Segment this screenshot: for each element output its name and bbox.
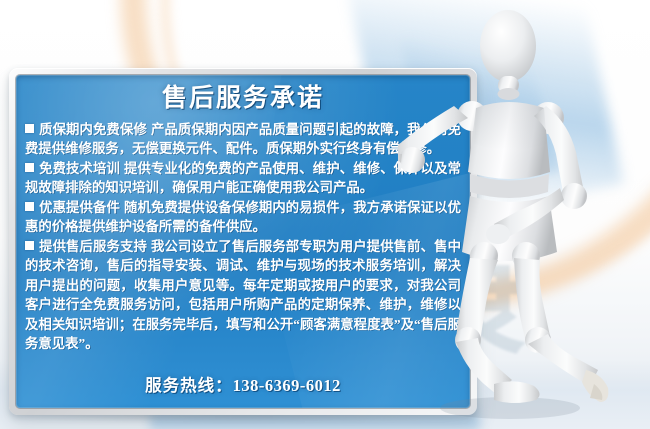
list-item: 质保期内免费保修产品质保期内因产品质量问题引起的故障，我公司免费提供维修服务，无… <box>25 120 461 159</box>
square-bullet-icon <box>25 202 34 211</box>
list-item: 优惠提供备件随机免费提供设备保修期内的易损件，我方承诺保证以优惠的价格提供维护设… <box>25 198 461 237</box>
list-item: 免费技术培训提供专业化的免费的产品使用、维护、维修、保养以及常规故障排除的知识培… <box>25 159 461 198</box>
signboard-panel: 售后服务承诺 质保期内免费保修产品质保期内因产品质量问题引起的故障，我公司免费提… <box>16 75 470 408</box>
hotline-row: 服务热线：138-6369-6012 <box>25 372 461 396</box>
signboard-frame: 售后服务承诺 质保期内免费保修产品质保期内因产品质量问题引起的故障，我公司免费提… <box>9 68 477 415</box>
signboard-content: 售后服务承诺 质保期内免费保修产品质保期内因产品质量问题引起的故障，我公司免费提… <box>16 75 470 396</box>
square-bullet-icon <box>25 241 34 250</box>
hotline-number: 138-6369-6012 <box>233 376 341 395</box>
list-item: 提供售后服务支持我公司设立了售后服务部专职为用户提供售前、售中的技术咨询，售后的… <box>25 237 461 354</box>
clause-heading: 质保期内免费保修 <box>39 122 147 137</box>
clause-heading: 免费技术培训 <box>39 161 120 176</box>
clause-heading: 优惠提供备件 <box>39 200 120 215</box>
clause-body: 我公司设立了售后服务部专职为用户提供售前、售中的技术咨询，售后的指导安装、调试、… <box>25 239 461 352</box>
clause-heading: 提供售后服务支持 <box>39 239 147 254</box>
square-bullet-icon <box>25 124 34 133</box>
page-title: 售后服务承诺 <box>25 85 461 113</box>
poster-canvas: 正康 售后服务承诺 质保期内免费保修产品质保期内因产品质量问题引起的故障，我公司… <box>0 0 650 429</box>
commitment-list: 质保期内免费保修产品质保期内因产品质量问题引起的故障，我公司免费提供维修服务，无… <box>25 120 461 354</box>
hotline-label: 服务热线： <box>145 376 233 395</box>
square-bullet-icon <box>25 163 34 172</box>
